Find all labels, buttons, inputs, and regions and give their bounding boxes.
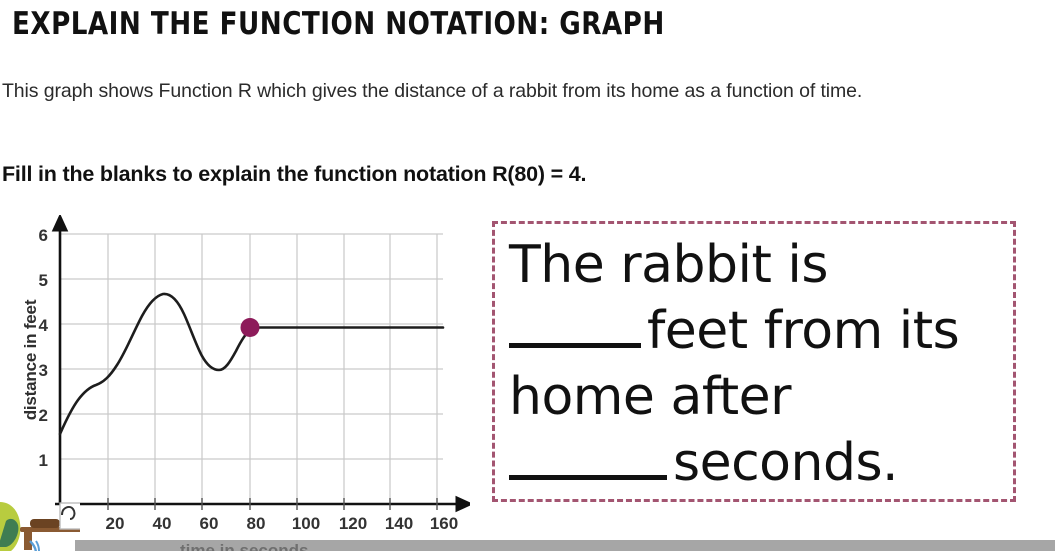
- y-axis-title: distance in feet: [21, 275, 41, 445]
- graph-plot: 6 5 4 3 2 1 20 40: [0, 215, 470, 545]
- answer-box[interactable]: The rabbit is feet from its home after s…: [492, 221, 1016, 502]
- svg-text:20: 20: [106, 514, 125, 533]
- instruction-text: Fill in the blanks to explain the functi…: [2, 162, 586, 187]
- function-curve: [60, 294, 443, 434]
- svg-text:160: 160: [430, 514, 458, 533]
- x-axis-title: time in seconds: [180, 541, 308, 551]
- answer-line-1: The rabbit is: [509, 235, 828, 295]
- answer-line-3: home after: [509, 367, 791, 427]
- svg-text:60: 60: [200, 514, 219, 533]
- intro-paragraph: This graph shows Function R which gives …: [2, 78, 962, 105]
- answer-line-4: seconds.: [673, 433, 898, 493]
- answer-sentence: The rabbit is feet from its home after s…: [509, 232, 1005, 496]
- highlight-point: [241, 318, 260, 337]
- svg-text:120: 120: [339, 514, 367, 533]
- svg-text:80: 80: [247, 514, 266, 533]
- graph-figure: distance in feet 6 5 4 3 2: [0, 215, 470, 545]
- blank-feet[interactable]: [509, 343, 641, 348]
- svg-text:6: 6: [39, 226, 48, 245]
- page-title: Explain the Function Notation: Graph: [12, 6, 665, 42]
- svg-text:100: 100: [292, 514, 320, 533]
- answer-line-2: feet from its: [647, 301, 959, 361]
- bottom-bar: time in seconds: [75, 540, 1055, 551]
- svg-text:1: 1: [39, 451, 48, 470]
- grid-horizontal: [60, 234, 443, 459]
- x-tick-labels: 20 40 60 80 100 120 140 160: [106, 514, 459, 533]
- svg-text:40: 40: [153, 514, 172, 533]
- blank-seconds[interactable]: [509, 475, 667, 480]
- svg-text:140: 140: [385, 514, 413, 533]
